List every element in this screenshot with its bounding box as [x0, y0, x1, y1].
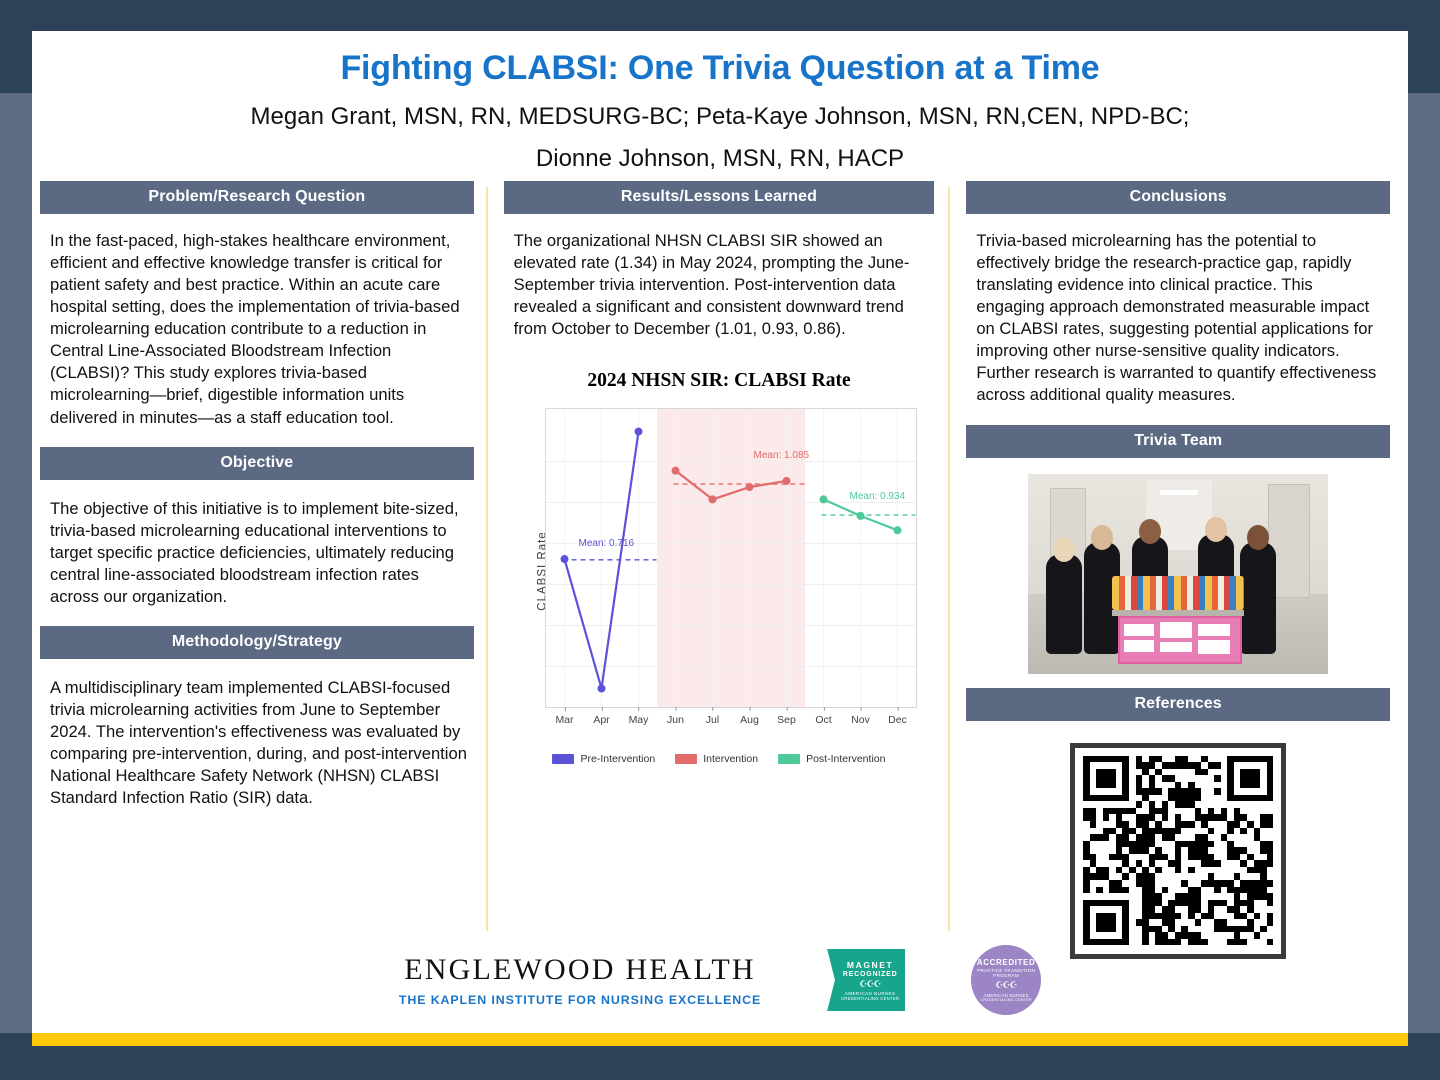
- photo-person-5-head: [1247, 525, 1269, 550]
- section-header-conclusions: Conclusions: [966, 181, 1390, 214]
- chart-legend-item: Intervention: [675, 753, 758, 765]
- section-body-conclusions: Trivia-based microlearning has the poten…: [966, 218, 1390, 411]
- section-trivia-team: Trivia Team: [966, 425, 1390, 674]
- chart-x-tick-label: Mar: [555, 714, 573, 726]
- poster-footer: ENGLEWOOD HEALTH THE KAPLEN INSTITUTE FO…: [32, 945, 1408, 1015]
- frame-band-left: [0, 93, 32, 1033]
- chart-data-point: [634, 428, 642, 436]
- column-middle: Results/Lessons Learned The organization…: [488, 181, 949, 941]
- chart-x-tick-label: Aug: [740, 714, 759, 726]
- author-list: Megan Grant, MSN, RN, MEDSURG-BC; Peta-K…: [92, 100, 1348, 177]
- chart-data-point: [597, 685, 605, 693]
- chart-data-point: [819, 496, 827, 504]
- legend-label: Intervention: [703, 753, 758, 765]
- chart-line-intervention: [675, 471, 786, 500]
- chart-series-layer: [546, 409, 916, 707]
- chart-x-tick-label: May: [629, 714, 649, 726]
- chart-x-tick-label: Dec: [888, 714, 907, 726]
- chart-data-point: [708, 496, 716, 504]
- section-conclusions: Conclusions Trivia-based microlearning h…: [966, 181, 1390, 411]
- photo-board-card: [1198, 624, 1230, 636]
- chart-data-point: [856, 512, 864, 520]
- photo-board-card: [1124, 624, 1154, 636]
- clabsi-rate-chart: 2024 NHSN SIR: CLABSI Rate CLABSI Rate 0…: [504, 370, 935, 736]
- magnet-line-1: MAGNET: [847, 960, 893, 970]
- section-body-objective: The objective of this initiative is to i…: [40, 484, 474, 612]
- photo-person-3-head: [1139, 519, 1161, 544]
- chart-data-point: [560, 555, 568, 563]
- photo-cart-snacks: [1112, 576, 1244, 610]
- magnet-line-4: CREDENTIALING CENTER: [841, 996, 899, 1001]
- photo-person-1: [1046, 554, 1082, 654]
- chart-x-tick-label: Nov: [851, 714, 870, 726]
- chart-x-tick-label: Oct: [815, 714, 831, 726]
- frame-band-right: [1408, 93, 1440, 1033]
- photo-snack-cart: [1112, 576, 1244, 660]
- legend-swatch: [778, 754, 800, 764]
- section-body-methodology: A multidisciplinary team implemented CLA…: [40, 663, 474, 813]
- chart-x-tick-label: Jun: [667, 714, 684, 726]
- chart-canvas: 0.20.40.60.81.01.2Mean: 0.716Mean: 1.085…: [545, 408, 917, 708]
- englewood-health-logo: ENGLEWOOD HEALTH THE KAPLEN INSTITUTE FO…: [399, 953, 761, 1007]
- photo-board-card: [1160, 622, 1192, 638]
- column-right: Conclusions Trivia-based microlearning h…: [950, 181, 1408, 941]
- section-body-problem: In the fast-paced, high-stakes healthcar…: [40, 218, 474, 433]
- chart-x-tick-label: Jul: [706, 714, 719, 726]
- section-problem: Problem/Research Question In the fast-pa…: [40, 181, 474, 433]
- section-header-methodology: Methodology/Strategy: [40, 626, 474, 659]
- chart-legend: Pre-InterventionInterventionPost-Interve…: [509, 753, 929, 765]
- photo-trivia-board: [1118, 616, 1242, 664]
- legend-label: Post-Intervention: [806, 753, 885, 765]
- photo-ceiling-light: [1160, 490, 1198, 495]
- legend-label: Pre-Intervention: [580, 753, 655, 765]
- section-body-results: The organizational NHSN CLABSI SIR showe…: [504, 218, 935, 344]
- accredited-line-3: PROGRAM: [993, 973, 1019, 978]
- section-header-trivia-team: Trivia Team: [966, 425, 1390, 458]
- photo-person-5: [1240, 542, 1276, 654]
- accredited-line-1: ACCREDITED: [977, 958, 1035, 967]
- magnet-recognized-badge: MAGNET RECOGNIZED ☪☪☪ AMERICAN NURSES CR…: [827, 949, 905, 1011]
- magnet-line-2: RECOGNIZED: [843, 971, 898, 978]
- gold-accent-bar: [32, 1033, 1408, 1046]
- trivia-team-photo: [1028, 474, 1328, 674]
- poster-canvas: Fighting CLABSI: One Trivia Question at …: [32, 31, 1408, 1033]
- wheat-icon: ☪☪☪: [860, 980, 881, 989]
- accredited-program-badge: ACCREDITED PRACTICE TRANSITION PROGRAM ☪…: [971, 945, 1041, 1015]
- chart-title: 2024 NHSN SIR: CLABSI Rate: [506, 370, 933, 392]
- photo-person-1-head: [1053, 537, 1075, 562]
- wheat-icon: ☪☪☪: [996, 981, 1017, 990]
- photo-person-4-head: [1205, 517, 1227, 542]
- legend-swatch: [675, 754, 697, 764]
- authors-line-2: Dionne Johnson, MSN, RN, HACP: [92, 142, 1348, 177]
- poster-columns: Problem/Research Question In the fast-pa…: [32, 181, 1408, 941]
- chart-legend-item: Pre-Intervention: [552, 753, 655, 765]
- section-header-results: Results/Lessons Learned: [504, 181, 935, 214]
- org-name: ENGLEWOOD HEALTH: [399, 953, 761, 987]
- poster-frame: Fighting CLABSI: One Trivia Question at …: [0, 0, 1440, 1080]
- section-header-problem: Problem/Research Question: [40, 181, 474, 214]
- authors-line-1: Megan Grant, MSN, RN, MEDSURG-BC; Peta-K…: [251, 103, 1190, 130]
- section-references: References: [966, 688, 1390, 959]
- references-qr-code[interactable]: [1070, 743, 1286, 959]
- chart-mean-label: Mean: 0.934: [849, 491, 905, 502]
- chart-data-point: [671, 467, 679, 475]
- photo-board-card: [1160, 642, 1192, 652]
- chart-legend-item: Post-Intervention: [778, 753, 885, 765]
- chart-mean-label: Mean: 0.716: [578, 538, 634, 549]
- section-header-references: References: [966, 688, 1390, 721]
- section-results: Results/Lessons Learned The organization…: [504, 181, 935, 344]
- accredited-line-5: CREDENTIALING CENTER: [980, 998, 1031, 1002]
- legend-swatch: [552, 754, 574, 764]
- chart-x-tick-label: Apr: [593, 714, 609, 726]
- chart-plot-area: CLABSI Rate 0.20.40.60.81.01.2Mean: 0.71…: [509, 406, 929, 736]
- chart-mean-label: Mean: 1.085: [753, 450, 809, 461]
- qr-modules: [1083, 756, 1273, 946]
- photo-board-card: [1198, 640, 1230, 654]
- section-methodology: Methodology/Strategy A multidisciplinary…: [40, 626, 474, 813]
- section-objective: Objective The objective of this initiati…: [40, 447, 474, 612]
- chart-x-tick-label: Sep: [777, 714, 796, 726]
- chart-data-point: [893, 527, 901, 535]
- page-title: Fighting CLABSI: One Trivia Question at …: [32, 49, 1408, 88]
- photo-board-card: [1124, 640, 1154, 652]
- org-tagline: THE KAPLEN INSTITUTE FOR NURSING EXCELLE…: [399, 993, 761, 1007]
- column-left: Problem/Research Question In the fast-pa…: [32, 181, 486, 941]
- section-header-objective: Objective: [40, 447, 474, 480]
- photo-person-2-head: [1091, 525, 1113, 550]
